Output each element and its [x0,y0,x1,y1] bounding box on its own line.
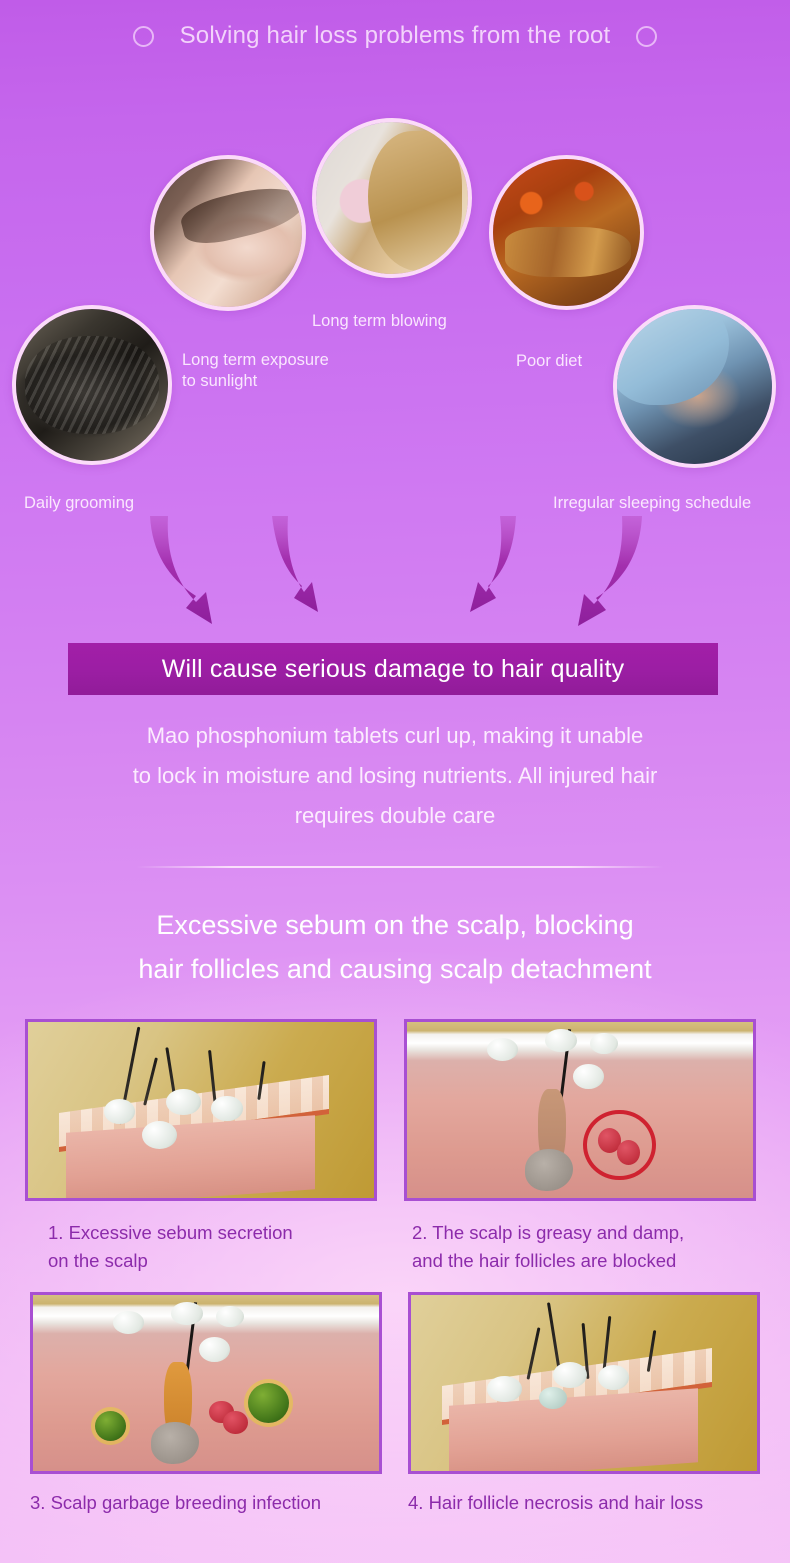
sebum-blob [113,1311,144,1334]
cause-label-sleep: Irregular sleeping schedule [553,493,751,514]
panel-caption-4: 4. Hair follicle necrosis and hair loss [408,1489,763,1517]
sebum-blob [487,1038,518,1061]
warning-banner-text: Will cause serious damage to hair qualit… [162,655,625,684]
cause-photo-daily-grooming [12,305,172,465]
sebum-blob [216,1306,244,1327]
follicle-bulb [525,1149,573,1191]
sebum-blob [573,1064,604,1089]
cause-label-blowing: Long term blowing [312,311,447,332]
cause-label-daily-grooming: Daily grooming [24,493,134,514]
grilled-meat-skewers-photo [493,159,640,306]
paragraph-line-2: to lock in moisture and losing nutrients… [35,756,755,796]
sebum-blob [211,1096,242,1121]
description-paragraph: Mao phosphonium tablets curl up, making … [35,716,755,836]
wet-tangled-hair-photo [16,309,168,461]
sebum-blob [545,1029,576,1052]
sebum-blob [598,1365,629,1390]
sebum-blob [171,1302,202,1325]
paragraph-line-3: requires double care [35,796,755,836]
cause-photo-blowing [312,118,472,278]
follicle-bulb [151,1422,199,1464]
section-divider [136,866,664,868]
cause-photo-sunlight [150,155,306,311]
diagram-panel-4 [408,1292,760,1474]
scalp-surface-with-sebum-diagram [28,1022,374,1198]
curved-down-arrow-icon [150,516,212,624]
scalp-infection-bacteria-cross-section-diagram [33,1295,379,1471]
sebum-blob [142,1121,177,1149]
woman-under-blanket-at-night-photo [617,309,772,464]
arrow-group [0,512,790,642]
section-heading-line-1: Excessive sebum on the scalp, blocking [25,903,765,947]
sebum-blob [199,1337,230,1362]
diagram-panel-3 [30,1292,382,1474]
bacteria-particle [95,1411,126,1441]
cause-photo-diet [489,155,644,310]
cause-label-poor-diet: Poor diet [516,351,582,372]
diagram-panel-1 [25,1019,377,1201]
page-title: Solving hair loss problems from the root [180,22,611,50]
circle-outline-icon [133,26,154,47]
woman-face-in-sunlight-photo [154,159,302,307]
highlighted-blocked-region [583,1110,656,1180]
empty-follicle-marker [539,1387,567,1410]
panel-caption-1: 1. Excessive sebum secretion on the scal… [48,1219,378,1275]
sebum-blob [590,1033,618,1054]
sebum-blob [487,1376,522,1402]
diagram-panel-2 [404,1019,756,1201]
scalp-surface-hair-loss-diagram [411,1295,757,1471]
warning-banner: Will cause serious damage to hair qualit… [68,643,718,695]
curved-down-arrow-icon [470,516,516,612]
sebum-blob [166,1089,201,1115]
curved-down-arrows-svg [0,512,790,642]
woman-blow-drying-hair-photo [316,122,468,274]
paragraph-line-1: Mao phosphonium tablets curl up, making … [35,716,755,756]
section-heading-line-2: hair follicles and causing scalp detachm… [25,947,765,991]
section-heading: Excessive sebum on the scalp, blocking h… [25,903,765,991]
panel-caption-3: 3. Scalp garbage breeding infection [30,1489,385,1517]
curved-down-arrow-icon [272,516,318,612]
panel-caption-2: 2. The scalp is greasy and damp, and the… [412,1219,757,1275]
bacteria-particle [248,1383,290,1423]
circle-outline-icon [636,26,657,47]
curved-down-arrow-icon [578,516,642,626]
cause-photo-sleep [613,305,776,468]
red-blood-cell [223,1411,247,1434]
page-header: Solving hair loss problems from the root [0,22,790,50]
blocked-hair-follicle-cross-section-diagram [407,1022,753,1198]
cause-label-sunlight: Long term exposure to sunlight [182,350,329,392]
